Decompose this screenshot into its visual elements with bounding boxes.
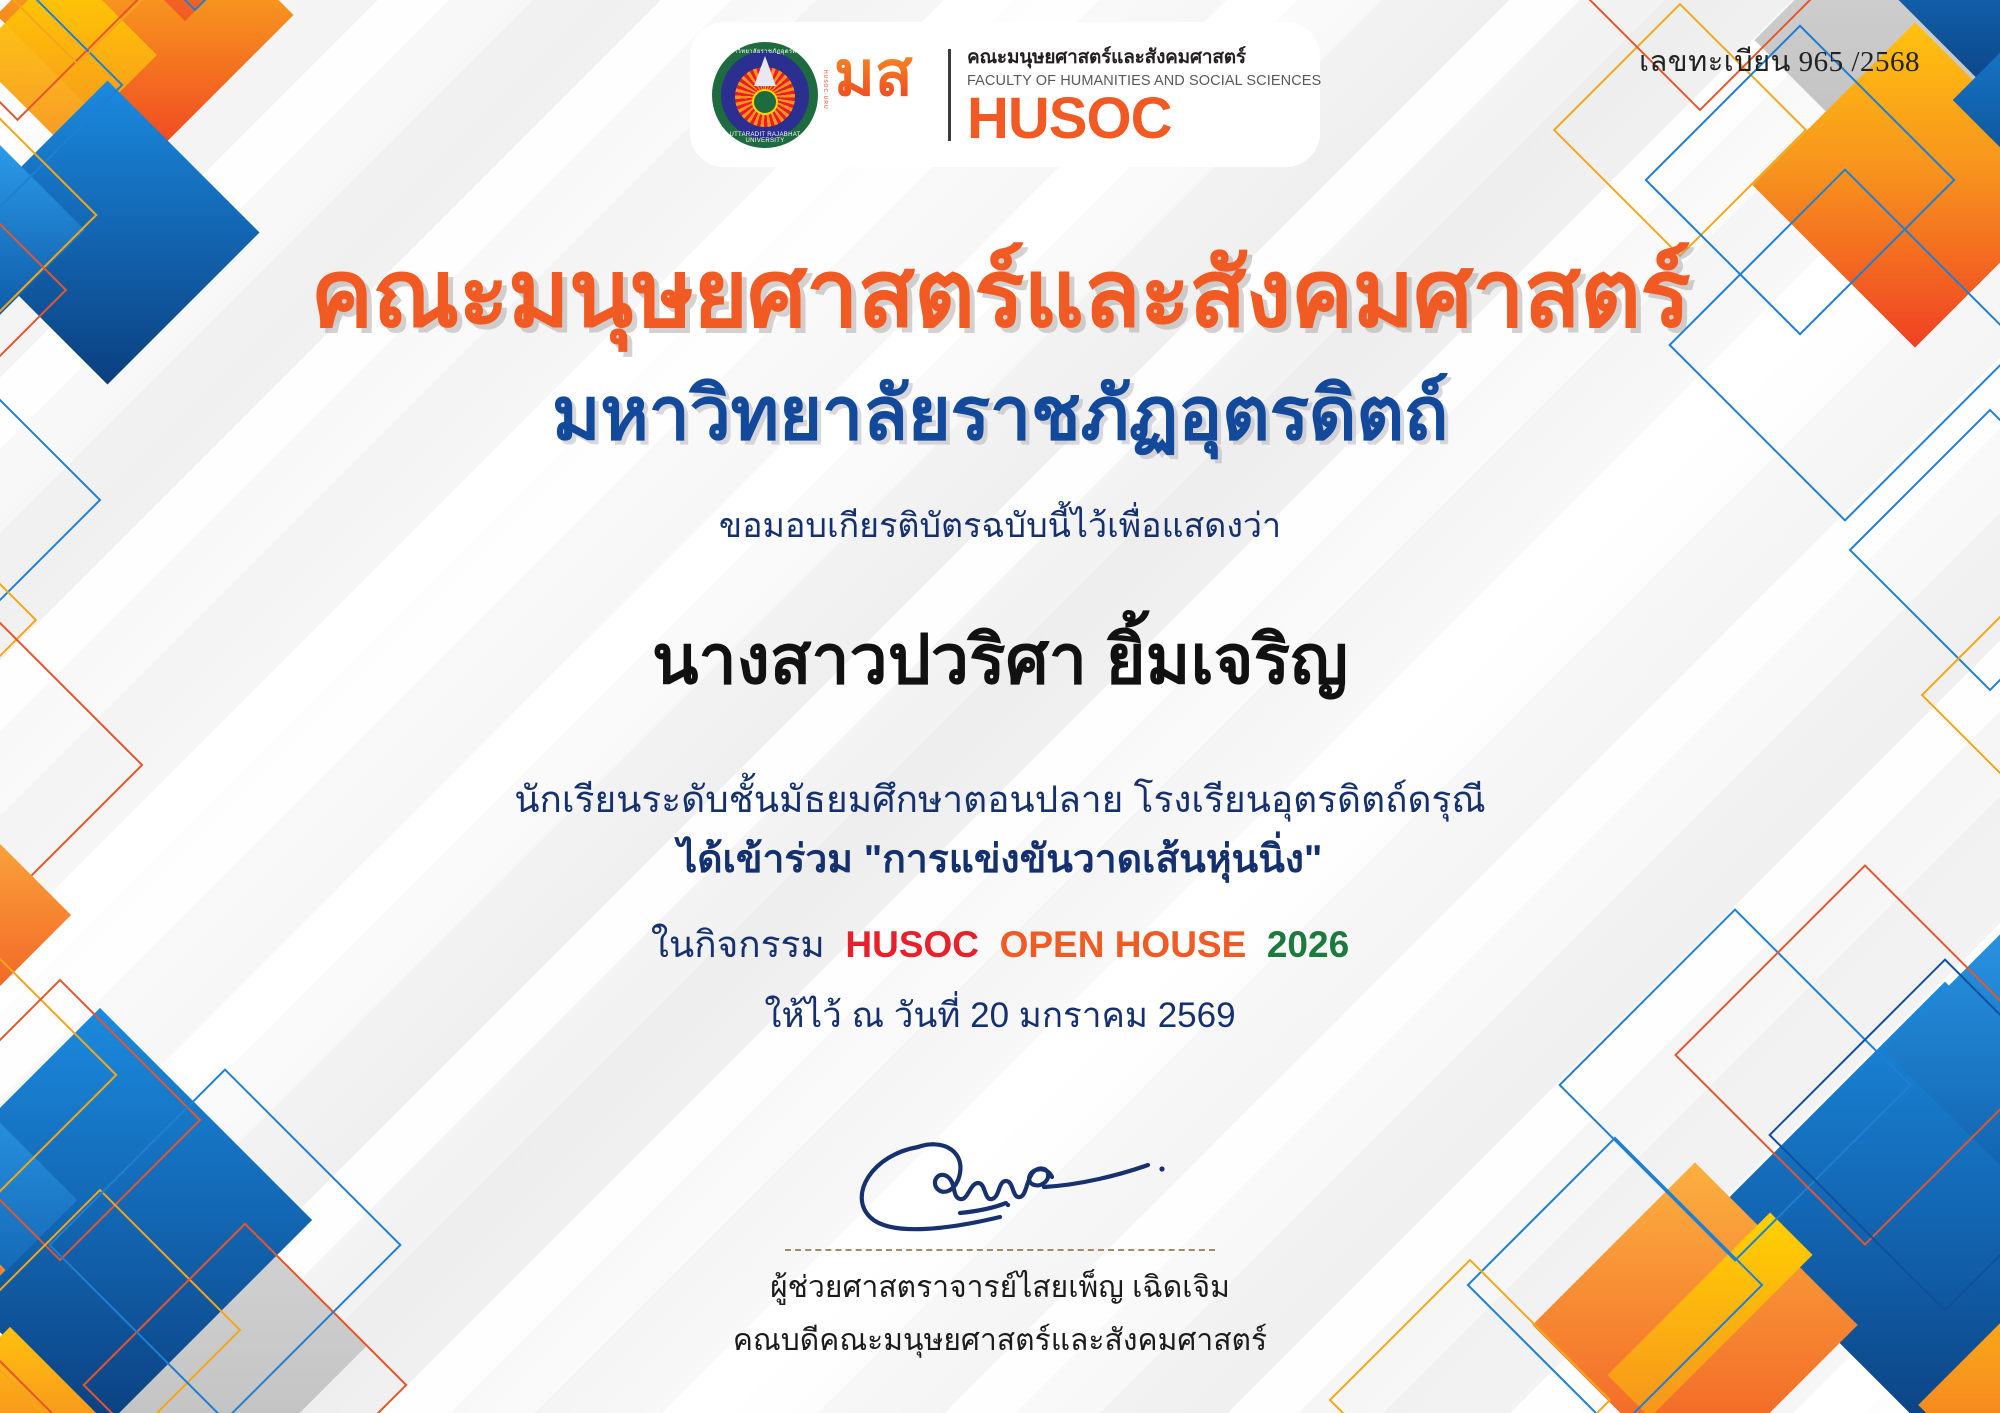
handwritten-signature-icon: [800, 1125, 1200, 1245]
signer-role: คณบดีคณะมนุษยศาสตร์และสังคมศาสตร์: [0, 1317, 2000, 1364]
logo-divider: [948, 49, 951, 141]
seal-top-text: มหาวิทยาลัยราชภัฏอุตรดิตถ์: [712, 46, 818, 56]
husoc-monogram-icon: มส HUSOC-URU: [824, 40, 932, 150]
participation-line: ได้เข้าร่วม "การแข่งขันวาดเส้นหุ่นนิ่ง": [0, 828, 2000, 890]
registration-number: เลขทะเบียน 965 /2568: [1639, 38, 1920, 84]
university-seal-icon: มหาวิทยาลัยราชภัฏอุตรดิตถ์ UTTARADIT RAJ…: [712, 42, 818, 148]
activity-husoc: HUSOC: [845, 924, 979, 965]
monogram-side-text: HUSOC-URU: [822, 70, 828, 110]
activity-prefix: ในกิจกรรม: [651, 924, 825, 965]
activity-openhouse: OPEN HOUSE: [1000, 924, 1247, 965]
signer-name: ผู้ช่วยศาสตราจารย์ไสยเพ็ญ เฉิดเจิม: [0, 1264, 2000, 1311]
certificate-faculty-title: คณะมนุษยศาสตร์และสังคมศาสตร์: [0, 245, 2000, 344]
signature-block: ผู้ช่วยศาสตราจารย์ไสยเพ็ญ เฉิดเจิม คณบดี…: [0, 1125, 2000, 1364]
monogram-glyphs: มส: [834, 44, 913, 106]
activity-year: 2026: [1267, 924, 1349, 965]
recipient-name: นางสาวปวริศา ยิ้มเจริญ: [0, 605, 2000, 713]
husoc-wordmark: HUSOC: [967, 91, 1321, 146]
logo-bar: มหาวิทยาลัยราชภัฏอุตรดิตถ์ UTTARADIT RAJ…: [690, 22, 1320, 167]
signature-rule: [785, 1249, 1215, 1251]
certificate-university-title: มหาวิทยาลัยราชภัฏอุตรดิตถ์: [0, 375, 2000, 453]
faculty-name-thai: คณะมนุษยศาสตร์และสังคมศาสตร์: [967, 42, 1321, 72]
logo-text-block: คณะมนุษยศาสตร์และสังคมศาสตร์ FACULTY OF …: [967, 42, 1321, 146]
recipient-school-line: นักเรียนระดับชั้นมัธยมศึกษาตอนปลาย โรงเร…: [0, 770, 2000, 829]
issue-date-line: ให้ไว้ ณ วันที่ 20 มกราคม 2569: [0, 988, 2000, 1043]
certificate-canvas: เลขทะเบียน 965 /2568 มหาวิทยาลัยราชภัฏอุ…: [0, 0, 2000, 1413]
seal-bottom-text: UTTARADIT RAJABHAT UNIVERSITY: [712, 132, 818, 144]
certificate-lead-text: ขอมอบเกียรติบัตรฉบับนี้ไว้เพื่อแสดงว่า: [0, 498, 2000, 552]
activity-line: ในกิจกรรม HUSOC OPEN HOUSE 2026: [0, 915, 2000, 974]
